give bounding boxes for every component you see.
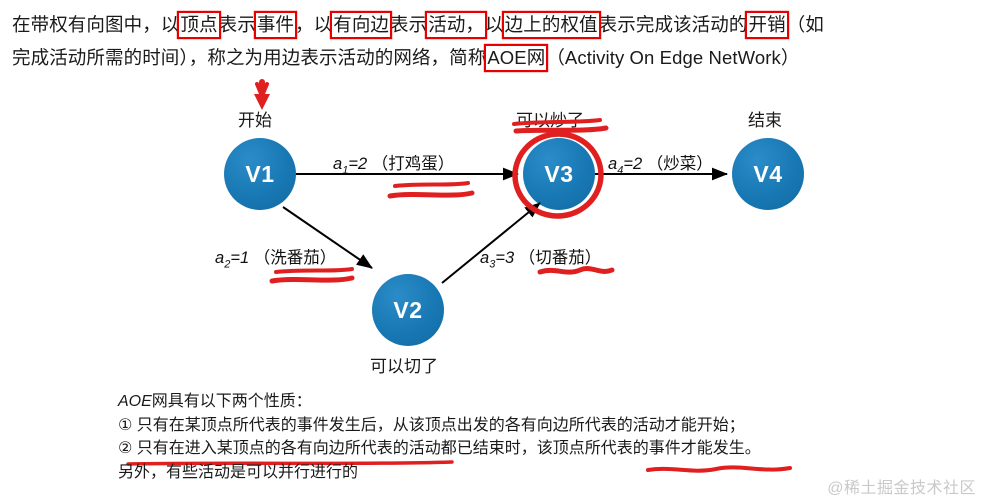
edge-label-a2: a2=1 （洗番茄） bbox=[215, 244, 336, 270]
highlight-box-l2-1: AOE网 bbox=[486, 46, 546, 70]
graph-node-v1-label: V1 bbox=[245, 161, 274, 188]
graph-node-v4-label: V4 bbox=[753, 161, 782, 188]
node-caption-v3: 可以炒了 bbox=[516, 106, 584, 131]
node-caption-v1: 开始 bbox=[238, 106, 272, 131]
edge-a4-activity: （炒菜） bbox=[647, 155, 713, 173]
edge-a4-weight: =2 bbox=[623, 155, 642, 173]
edge-a1-activity: （打鸡蛋） bbox=[372, 155, 455, 173]
footer-title: AOE网具有以下两个性质： bbox=[118, 390, 978, 414]
footer-item-2: ② 只有在进入某顶点的各有向边所代表的活动都已结束时，该顶点所代表的事件才能发生… bbox=[118, 437, 978, 461]
intro-paragraph: 在带权有向图中，以顶点表示事件，以有向边表示活动，以边上的权值表示完成该活动的开… bbox=[12, 8, 978, 74]
highlight-box-l1-7: 活动， bbox=[427, 13, 485, 37]
graph-node-v1[interactable]: V1 bbox=[224, 138, 296, 210]
intro-line-1: 在带权有向图中，以顶点表示事件，以有向边表示活动，以边上的权值表示完成该活动的开… bbox=[12, 14, 824, 35]
intro-text-l1-4: ，以 bbox=[295, 14, 332, 35]
edge-a3-symbol: a bbox=[480, 249, 489, 267]
edge-a4-symbol: a bbox=[608, 155, 617, 173]
footer-properties-text: AOE网具有以下两个性质： ① 只有在某顶点所代表的事件发生后，从该顶点出发的各… bbox=[118, 390, 978, 484]
aoe-network-diagram: 开始 可以切了 可以炒了 结束 V1 V2 V3 V4 a1=2 （打鸡蛋） a… bbox=[0, 88, 990, 384]
edge-label-a3: a3=3 （切番茄） bbox=[480, 244, 601, 270]
intro-text-l2-0: 完成活动所需的时间），称之为用边表示活动的网络，简称 bbox=[12, 47, 486, 68]
highlight-box-l1-5: 有向边 bbox=[332, 13, 390, 37]
edge-a3-weight: =3 bbox=[495, 249, 514, 267]
intro-line-2: 完成活动所需的时间），称之为用边表示活动的网络，简称AOE网（Activity … bbox=[12, 47, 799, 68]
node-caption-v2: 可以切了 bbox=[370, 352, 438, 377]
highlight-box-l1-1: 顶点 bbox=[179, 13, 218, 37]
watermark: @稀土掘金技术社区 bbox=[827, 474, 976, 498]
edge-label-a1: a1=2 （打鸡蛋） bbox=[333, 150, 454, 176]
graph-node-v2-label: V2 bbox=[393, 297, 422, 324]
highlight-box-l1-9: 边上的权值 bbox=[504, 13, 599, 37]
graph-node-v2[interactable]: V2 bbox=[372, 274, 444, 346]
edge-a3-activity: （切番茄） bbox=[519, 249, 602, 267]
edge-a2-symbol: a bbox=[215, 249, 224, 267]
node-caption-v4: 结束 bbox=[748, 106, 782, 131]
edge-a1-weight: =2 bbox=[348, 155, 367, 173]
intro-text-l1-10: 表示完成该活动的 bbox=[599, 14, 748, 35]
footer-title-en: AOE bbox=[118, 393, 152, 410]
intro-text-l1-2: 表示 bbox=[219, 14, 256, 35]
highlight-box-l1-3: 事件 bbox=[256, 13, 295, 37]
footer-item-1: ① 只有在某顶点所代表的事件发生后，从该顶点出发的各有向边所代表的活动才能开始； bbox=[118, 414, 978, 438]
edge-a2-activity: （洗番茄） bbox=[254, 249, 337, 267]
edge-a2-weight: =1 bbox=[230, 249, 249, 267]
highlight-box-l1-11: 开销 bbox=[747, 13, 786, 37]
edge-a1-symbol: a bbox=[333, 155, 342, 173]
intro-text-l1-6: 表示 bbox=[390, 14, 427, 35]
intro-text-l1-12: （如 bbox=[787, 14, 824, 35]
graph-node-v4[interactable]: V4 bbox=[732, 138, 804, 210]
graph-node-v3-label: V3 bbox=[544, 161, 573, 188]
intro-text-l1-8: 以 bbox=[485, 14, 504, 35]
intro-text-l2-2: （Activity On Edge NetWork） bbox=[546, 47, 799, 68]
screenshot-page: 在带权有向图中，以顶点表示事件，以有向边表示活动，以边上的权值表示完成该活动的开… bbox=[0, 0, 990, 503]
intro-text-l1-0: 在带权有向图中，以 bbox=[12, 14, 179, 35]
graph-node-v3[interactable]: V3 bbox=[523, 138, 595, 210]
edge-label-a4: a4=2 （炒菜） bbox=[608, 150, 713, 176]
footer-title-zh: 网具有以下两个性质： bbox=[152, 393, 312, 410]
